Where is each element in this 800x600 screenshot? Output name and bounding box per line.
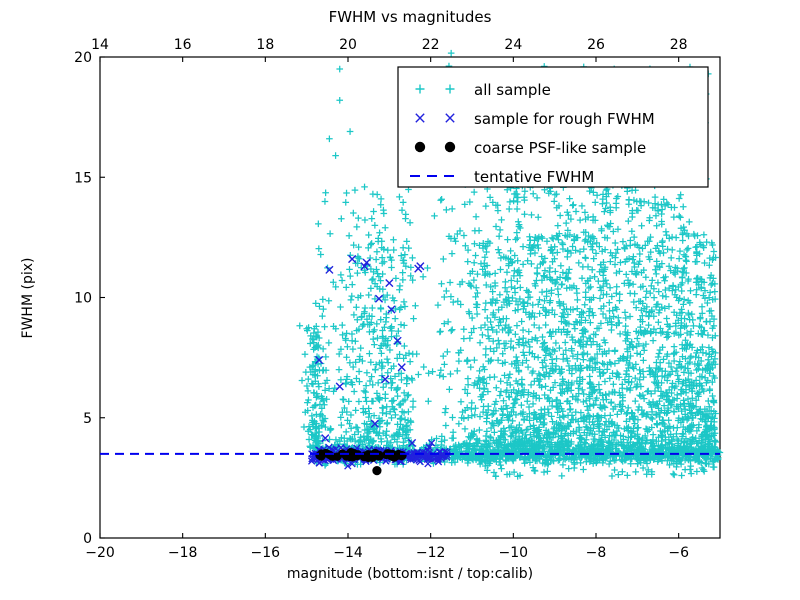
data-point-plus [388, 264, 395, 271]
data-point-plus [553, 340, 560, 347]
data-point-plus [643, 274, 650, 281]
data-point-plus [407, 219, 414, 226]
data-point-plus [536, 296, 543, 303]
data-point-plus [473, 284, 480, 291]
data-point-plus [384, 369, 391, 376]
data-point-plus [440, 353, 447, 360]
data-point-plus [366, 350, 373, 357]
data-point-plus [338, 272, 345, 279]
data-point-plus [487, 319, 494, 326]
data-point-plus [429, 368, 436, 375]
data-point-plus [708, 282, 715, 289]
data-point-plus [337, 414, 344, 421]
data-point-plus [415, 371, 422, 378]
data-point-plus [408, 264, 415, 271]
data-point-plus [370, 336, 377, 343]
data-point-plus [671, 214, 678, 221]
data-point-plus [526, 233, 533, 240]
data-point-plus [401, 322, 408, 329]
data-point-plus [438, 438, 445, 445]
data-point-plus [573, 208, 580, 215]
data-point-plus [618, 406, 625, 413]
data-point-plus [615, 314, 622, 321]
data-point-plus [541, 469, 548, 476]
data-point-plus [528, 382, 535, 389]
data-point-plus [546, 329, 553, 336]
data-point-plus [622, 309, 629, 316]
data-point-plus [521, 211, 528, 218]
data-point-plus [611, 467, 618, 474]
data-point-plus [365, 232, 372, 239]
data-point-plus [327, 427, 334, 434]
data-point-plus [399, 207, 406, 214]
data-point-plus [376, 229, 383, 236]
data-point-plus [401, 343, 408, 350]
data-point-plus [535, 214, 542, 221]
data-point-plus [606, 299, 613, 306]
data-point-plus [497, 378, 504, 385]
data-point-plus [681, 315, 688, 322]
data-point-plus [305, 388, 312, 395]
data-point-plus [399, 269, 406, 276]
data-point-plus [620, 238, 627, 245]
data-point-plus [354, 224, 361, 231]
data-point-plus [642, 294, 649, 301]
data-point-plus [384, 247, 391, 254]
data-point-plus [612, 240, 619, 247]
data-point-plus [349, 337, 356, 344]
data-point-plus [625, 218, 632, 225]
data-point-plus [525, 328, 532, 335]
data-point-cross [349, 255, 356, 262]
data-point-plus [347, 359, 354, 366]
data-point-plus [504, 236, 511, 243]
data-point-plus [495, 357, 502, 364]
data-point-plus [438, 280, 445, 287]
data-point-plus [515, 218, 522, 225]
data-point-plus [564, 254, 571, 261]
data-point-plus [616, 268, 623, 275]
data-point-plus [390, 236, 397, 243]
data-point-plus [548, 333, 555, 340]
data-point-plus [658, 438, 665, 445]
data-point-plus [449, 414, 456, 421]
legend-label-1: sample for rough FWHM [474, 110, 655, 128]
data-point-plus [687, 466, 694, 473]
data-point-plus [629, 228, 636, 235]
data-point-plus [581, 350, 588, 357]
data-point-plus [338, 422, 345, 429]
data-point-plus [381, 210, 388, 217]
data-point-plus [361, 321, 368, 328]
data-point-plus [602, 378, 609, 385]
data-point-plus [442, 405, 449, 412]
top-tick-label: 22 [422, 37, 440, 53]
data-point-plus [345, 398, 352, 405]
data-point-plus [555, 291, 562, 298]
left-tick-label: 10 [74, 291, 92, 307]
data-point-plus [390, 247, 397, 254]
data-point-plus [659, 293, 666, 300]
data-point-plus [497, 227, 504, 234]
data-point-plus [539, 334, 546, 341]
data-point-plus [369, 305, 376, 312]
data-point-plus [695, 366, 702, 373]
data-point-plus [374, 335, 381, 342]
data-point-plus [635, 407, 642, 414]
legend-label-0: all sample [474, 81, 551, 99]
data-point-plus [647, 234, 654, 241]
data-point-plus [563, 220, 570, 227]
data-point-plus [574, 305, 581, 312]
data-point-plus [540, 364, 547, 371]
data-point-plus [609, 473, 616, 480]
data-point-plus [592, 199, 599, 206]
data-point-plus [351, 388, 358, 395]
data-point-plus [646, 365, 653, 372]
data-point-plus [681, 324, 688, 331]
data-point-plus [678, 288, 685, 295]
data-point-plus [338, 376, 345, 383]
data-point-dot [415, 142, 425, 152]
data-point-cross [398, 364, 405, 371]
data-point-plus [651, 294, 658, 301]
data-point-plus [551, 198, 558, 205]
data-point-plus [443, 207, 450, 214]
data-point-plus [336, 97, 343, 104]
data-point-plus [437, 197, 444, 204]
data-point-plus [671, 343, 678, 350]
data-point-plus [517, 225, 524, 232]
data-point-plus [627, 313, 634, 320]
data-point-plus [374, 249, 381, 256]
data-point-plus [336, 366, 343, 373]
data-point-plus [502, 279, 509, 286]
data-point-plus [441, 294, 448, 301]
data-point-plus [560, 310, 567, 317]
data-point-plus [530, 190, 537, 197]
data-point-plus [493, 223, 500, 230]
data-point-plus [467, 364, 474, 371]
data-point-plus [462, 426, 469, 433]
data-point-plus [302, 351, 309, 358]
data-point-plus [566, 266, 573, 273]
data-point-plus [623, 271, 630, 278]
data-point-plus [569, 243, 576, 250]
data-point-plus [347, 273, 354, 280]
data-point-plus [396, 401, 403, 408]
data-point-plus [536, 310, 543, 317]
data-point-plus [474, 311, 481, 318]
data-point-plus [396, 194, 403, 201]
data-point-plus [553, 355, 560, 362]
data-point-plus [634, 335, 641, 342]
data-point-plus [368, 373, 375, 380]
data-point-plus [373, 321, 380, 328]
data-point-plus [482, 306, 489, 313]
data-point-plus [534, 195, 541, 202]
data-point-dot [397, 451, 405, 459]
data-point-plus [356, 398, 363, 405]
data-point-plus [435, 302, 442, 309]
data-point-plus [403, 238, 410, 245]
data-point-plus [674, 424, 681, 431]
data-point-plus [632, 187, 639, 194]
data-point-plus [450, 429, 457, 436]
data-point-plus [687, 287, 694, 294]
data-point-plus [337, 304, 344, 311]
data-point-plus [477, 339, 484, 346]
data-point-plus [353, 304, 360, 311]
data-point-plus [483, 203, 490, 210]
data-point-plus [493, 384, 500, 391]
data-point-plus [624, 472, 631, 479]
data-point-plus [385, 359, 392, 366]
data-point-plus [580, 356, 587, 363]
data-point-plus [634, 460, 641, 467]
bottom-tick-label: −10 [499, 545, 529, 561]
data-point-plus [627, 242, 634, 249]
data-point-plus [542, 383, 549, 390]
data-point-plus [518, 402, 525, 409]
data-point-plus [510, 198, 517, 205]
bottom-tick-label: −14 [333, 545, 363, 561]
left-tick-label: 5 [83, 411, 92, 427]
data-point-plus [645, 200, 652, 207]
data-point-plus [577, 460, 584, 467]
data-point-plus [676, 255, 683, 262]
data-point-plus [663, 315, 670, 322]
data-point-plus [447, 279, 454, 286]
data-point-plus [586, 373, 593, 380]
data-point-plus [349, 331, 356, 338]
data-point-plus [473, 213, 480, 220]
data-point-plus [624, 188, 631, 195]
data-point-plus [394, 393, 401, 400]
data-point-plus [364, 369, 371, 376]
data-point-plus [343, 429, 350, 436]
data-point-plus [412, 302, 419, 309]
data-point-plus [597, 295, 604, 302]
data-point-plus [565, 412, 572, 419]
data-point-plus [503, 315, 510, 322]
data-point-plus [579, 387, 586, 394]
data-point-plus [394, 386, 401, 393]
data-point-plus [582, 254, 589, 261]
data-point-plus [322, 189, 329, 196]
data-point-plus [404, 375, 411, 382]
data-point-plus [610, 381, 617, 388]
data-point-plus [702, 460, 709, 467]
data-point-plus [599, 360, 606, 367]
data-point-plus [552, 268, 559, 275]
data-point-plus [659, 206, 666, 213]
data-point-plus [529, 302, 536, 309]
data-point-plus [582, 289, 589, 296]
data-point-plus [670, 471, 677, 478]
data-point-plus [572, 325, 579, 332]
data-point-plus [464, 258, 471, 265]
data-point-plus [677, 214, 684, 221]
data-point-plus [632, 398, 639, 405]
data-point-plus [322, 198, 329, 205]
data-point-plus [652, 194, 659, 201]
data-point-plus [632, 375, 639, 382]
data-point-plus [353, 375, 360, 382]
data-point-plus [530, 401, 537, 408]
data-point-plus [371, 341, 378, 348]
data-point-plus [622, 315, 629, 322]
data-point-plus [665, 417, 672, 424]
data-point-plus [420, 273, 427, 280]
top-tick-label: 20 [339, 37, 357, 53]
x-axis-label: magnitude (bottom:isnt / top:calib) [287, 566, 533, 582]
data-point-plus [303, 369, 310, 376]
data-point-plus [471, 357, 478, 364]
data-point-plus [449, 250, 456, 257]
data-point-plus [622, 323, 629, 330]
bottom-tick-label: −16 [251, 545, 281, 561]
data-point-plus [613, 283, 620, 290]
data-point-plus [368, 285, 375, 292]
data-point-plus [398, 321, 405, 328]
data-point-plus [677, 248, 684, 255]
top-tick-label: 26 [587, 37, 605, 53]
data-point-plus [514, 322, 521, 329]
data-point-plus [357, 345, 364, 352]
data-point-plus [658, 330, 665, 337]
data-point-plus [520, 349, 527, 356]
data-point-plus [575, 385, 582, 392]
data-point-plus [384, 356, 391, 363]
data-point-plus [589, 246, 596, 253]
data-point-plus [370, 208, 377, 215]
data-point-plus [397, 283, 404, 290]
data-point-plus [544, 238, 551, 245]
data-point-plus [712, 288, 719, 295]
data-point-plus [340, 396, 347, 403]
data-point-plus [499, 411, 506, 418]
data-point-plus [382, 224, 389, 231]
data-point-plus [497, 392, 504, 399]
data-point-plus [530, 422, 537, 429]
data-point-plus [559, 240, 566, 247]
data-point-plus [579, 275, 586, 282]
data-point-plus [348, 425, 355, 432]
data-point-plus [438, 196, 445, 203]
data-point-plus [699, 303, 706, 310]
data-point-plus [712, 439, 719, 446]
data-point-plus [496, 249, 503, 256]
top-tick-label: 14 [91, 37, 109, 53]
data-point-plus [632, 469, 639, 476]
data-point-plus [482, 254, 489, 261]
data-point-plus [570, 201, 577, 208]
data-point-plus [483, 346, 490, 353]
data-point-plus [495, 246, 502, 253]
data-point-plus [343, 284, 350, 291]
data-point-plus [579, 203, 586, 210]
data-point-plus [410, 315, 417, 322]
data-point-plus [694, 468, 701, 475]
data-point-plus [413, 351, 420, 358]
data-point-plus [630, 281, 637, 288]
data-point-plus [506, 206, 513, 213]
data-point-cross [386, 279, 393, 286]
data-point-plus [373, 256, 380, 263]
data-point-plus [326, 135, 333, 142]
data-point-plus [441, 361, 448, 368]
data-point-plus [504, 269, 511, 276]
data-point-plus [616, 291, 623, 298]
data-point-plus [577, 217, 584, 224]
data-point-plus [320, 346, 327, 353]
data-point-plus [476, 427, 483, 434]
bottom-tick-label: −20 [85, 545, 115, 561]
data-point-plus [384, 421, 391, 428]
data-point-plus [465, 382, 472, 389]
data-point-plus [442, 409, 449, 416]
data-point-plus [367, 255, 374, 262]
data-point-plus [401, 299, 408, 306]
data-point-plus [655, 319, 662, 326]
data-point-plus [487, 374, 494, 381]
data-point-plus [663, 293, 670, 300]
data-point-plus [361, 184, 368, 191]
data-point-plus [539, 289, 546, 296]
data-point-dot [445, 142, 455, 152]
left-tick-label: 0 [83, 531, 92, 547]
data-point-plus [498, 465, 505, 472]
data-point-plus [601, 208, 608, 215]
data-point-plus [625, 405, 632, 412]
data-point-plus [405, 408, 412, 415]
data-point-plus [497, 266, 504, 273]
data-point-plus [582, 209, 589, 216]
data-point-plus [465, 375, 472, 382]
data-point-plus [638, 222, 645, 229]
data-point-plus [585, 264, 592, 271]
data-point-plus [431, 213, 438, 220]
data-point-plus [563, 285, 570, 292]
data-point-plus [323, 354, 330, 361]
data-point-plus [447, 371, 454, 378]
data-point-plus [321, 323, 328, 330]
data-point-plus [380, 405, 387, 412]
data-point-plus [661, 277, 668, 284]
data-point-plus [524, 257, 531, 264]
figure-canvas: FWHM vs magnitudes −20−18−16−14−12−10−8−… [0, 0, 800, 600]
data-point-plus [443, 422, 450, 429]
top-axis-ticks: 1416182022242628 [91, 37, 687, 62]
data-point-plus [674, 372, 681, 379]
data-point-plus [535, 354, 542, 361]
data-point-plus [348, 412, 355, 419]
data-point-plus [402, 303, 409, 310]
data-point-plus [677, 191, 684, 198]
data-point-plus [484, 315, 491, 322]
data-point-plus [676, 213, 683, 220]
left-tick-label: 20 [74, 50, 92, 66]
data-point-plus [701, 231, 708, 238]
data-point-plus [483, 415, 490, 422]
data-point-plus [591, 273, 598, 280]
data-point-plus [354, 270, 361, 277]
data-point-plus [437, 328, 444, 335]
data-point-plus [476, 368, 483, 375]
data-point-plus [356, 378, 363, 385]
plot-legend: all samplesample for rough FWHMcoarse PS… [398, 67, 708, 187]
